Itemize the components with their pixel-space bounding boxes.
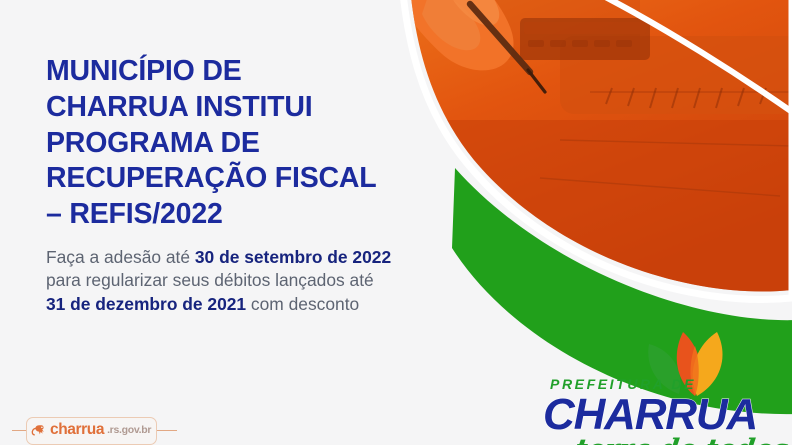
headline-line-5: – REFIS/2022 bbox=[46, 197, 476, 233]
badge-rule-right bbox=[157, 430, 177, 431]
badge-tld: .rs.gov.br bbox=[107, 424, 151, 436]
subtitle-line-3: 31 de dezembro de 2021 com desconto bbox=[46, 293, 476, 316]
subtitle-deadline-adhesion: 30 de setembro de 2022 bbox=[195, 247, 391, 267]
subtitle-line-1: Faça a adesão até 30 de setembro de 2022 bbox=[46, 246, 476, 269]
calculator-shape bbox=[520, 18, 650, 60]
paper-lines bbox=[540, 92, 792, 196]
badge-box[interactable]: charrua .rs.gov.br bbox=[26, 417, 157, 445]
subtitle-deadline-debts: 31 de dezembro de 2021 bbox=[46, 294, 246, 314]
brand-name: CHARRUA bbox=[543, 390, 757, 440]
subtitle-text: Faça a adesão até 30 de setembro de 2022… bbox=[46, 246, 476, 316]
badge-rule-left bbox=[12, 430, 26, 431]
brand-script: terra de todos! bbox=[573, 434, 792, 445]
bird-icon bbox=[30, 421, 47, 440]
badge-word: charrua bbox=[50, 421, 104, 439]
amber-corner-band bbox=[592, 0, 792, 120]
tick-marks bbox=[606, 88, 766, 108]
prefeitura-logo: PREFEITURA DE CHARRUA terra de todos! bbox=[541, 324, 792, 445]
subtitle-line-1-prefix: Faça a adesão até bbox=[46, 247, 195, 267]
headline-line-1: MUNICÍPIO DE bbox=[46, 54, 476, 90]
subtitle-line-2: para regularizar seus débitos lançados a… bbox=[46, 269, 476, 292]
poster-canvas: MUNICÍPIO DE CHARRUA INSTITUI PROGRAMA D… bbox=[0, 0, 792, 445]
headline-line-4: RECUPERAÇÃO FISCAL bbox=[46, 161, 476, 197]
site-badge[interactable]: charrua .rs.gov.br bbox=[12, 416, 212, 445]
headline-line-2: CHARRUA INSTITUI bbox=[46, 90, 476, 126]
page-title: MUNICÍPIO DE CHARRUA INSTITUI PROGRAMA D… bbox=[46, 54, 476, 233]
subtitle-line-3-suffix: com desconto bbox=[246, 294, 359, 314]
headline-line-3: PROGRAMA DE bbox=[46, 126, 476, 162]
white-arc-inner bbox=[584, 0, 792, 126]
